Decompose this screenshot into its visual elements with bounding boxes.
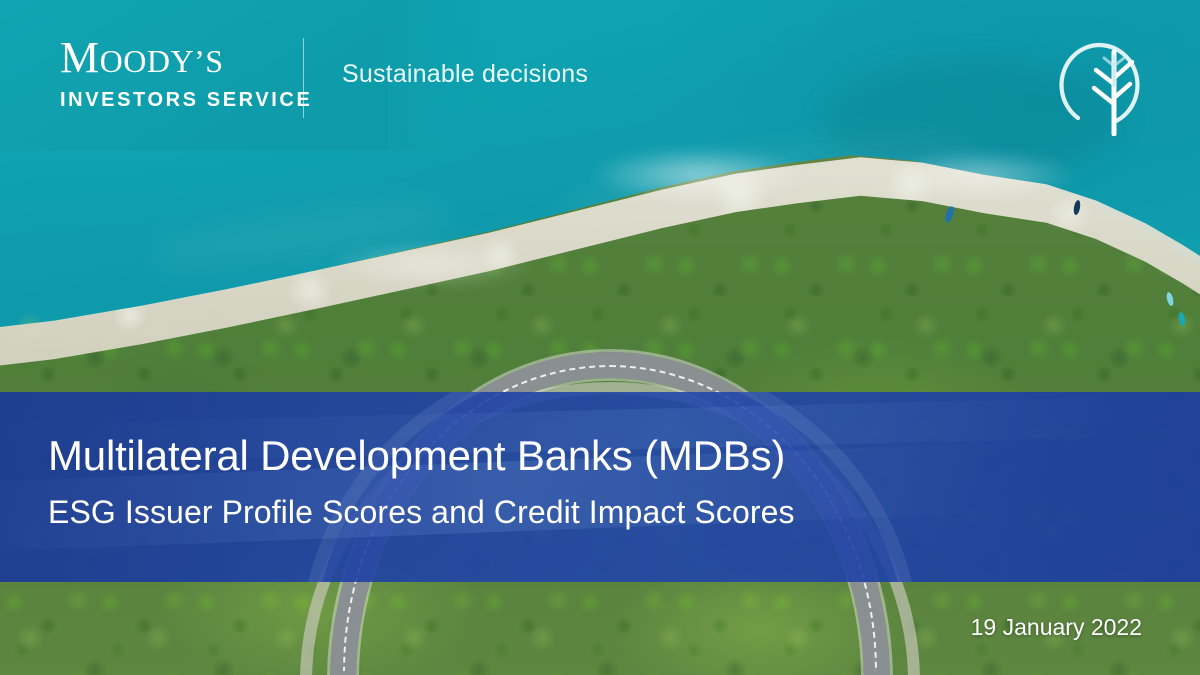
esg-climate-risk-logo[interactable]: ESG & CLIMATE RISK (1044, 26, 1156, 136)
moodys-logo-subtitle: INVESTORS SERVICE (60, 89, 312, 112)
page-title: Multilateral Development Banks (MDBs) (48, 432, 785, 480)
moodys-logo-m: M (60, 33, 100, 82)
header: MOODY’S INVESTORS SERVICE Sustainable de… (0, 0, 1200, 150)
page-subtitle: ESG Issuer Profile Scores and Credit Imp… (48, 494, 795, 531)
brand-tagline: Sustainable decisions (342, 60, 588, 89)
header-divider (303, 38, 304, 118)
moodys-logo[interactable]: MOODY’S INVESTORS SERVICE (60, 36, 312, 112)
moodys-logo-apostrophe-s: ’S (194, 43, 223, 79)
moodys-logo-wordmark: MOODY’S (60, 36, 312, 83)
moodys-logo-oody: OODY (100, 43, 194, 79)
title-banner (0, 392, 1200, 582)
title-slide: MOODY’S INVESTORS SERVICE Sustainable de… (0, 0, 1200, 675)
publication-date: 19 January 2022 (971, 614, 1142, 641)
